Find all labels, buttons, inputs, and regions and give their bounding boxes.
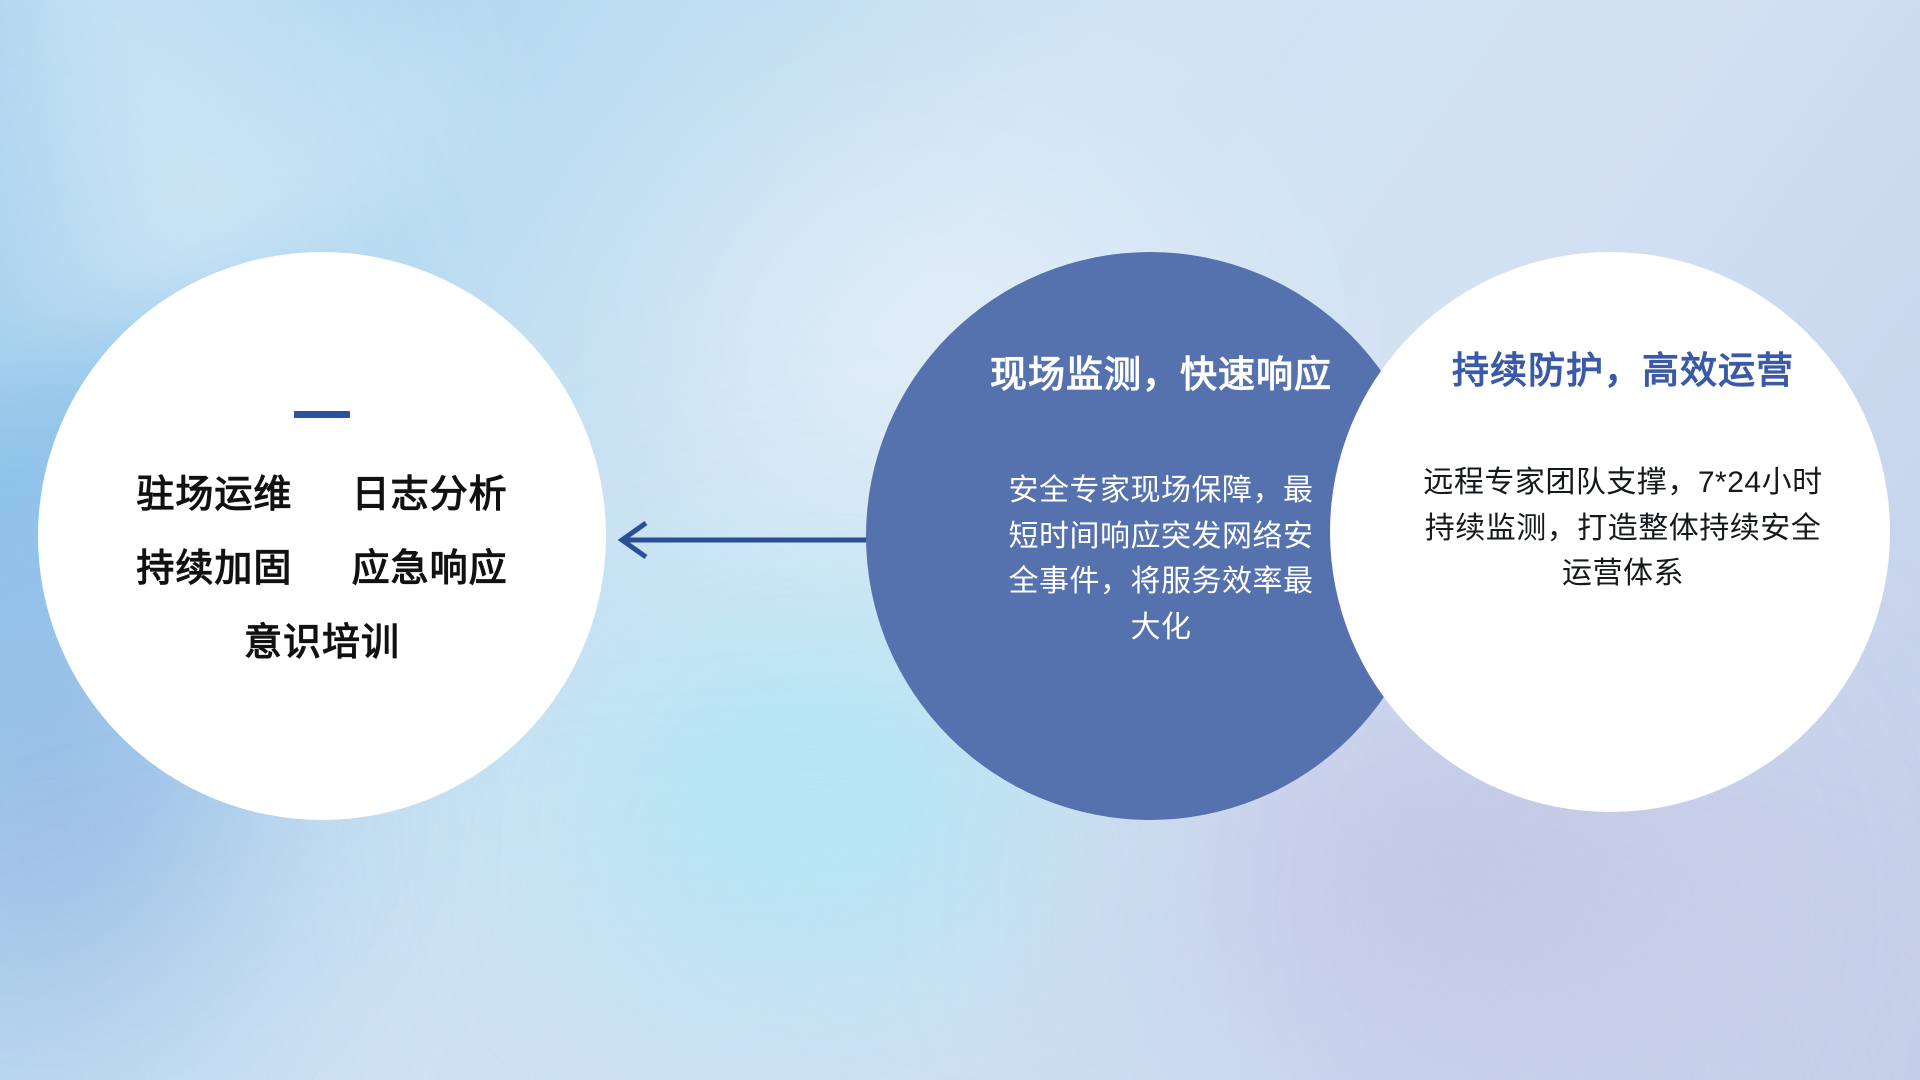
left-service-item-4: 应急响应	[352, 548, 508, 590]
right-circle-content: 持续防护，高效运营 远程专家团队支撑，7*24小时持续监测，打造整体持续安全运营…	[1330, 252, 1890, 812]
left-service-item-5: 意识培训	[244, 622, 400, 664]
slide-canvas: 驻场运维 日志分析 持续加固 应急响应 意识培训 现场监测，快速响应 安全专家现…	[0, 0, 1920, 1080]
left-service-row-2: 持续加固 应急响应	[136, 550, 507, 588]
right-circle-body: 远程专家团队支撑，7*24小时持续监测，打造整体持续安全运营体系	[1413, 460, 1833, 597]
arrow-left-connector	[600, 510, 890, 570]
left-service-item-2: 日志分析	[352, 474, 508, 516]
middle-circle-title: 现场监测，快速响应	[990, 344, 1332, 398]
left-divider-dash	[294, 411, 350, 418]
right-circle-title: 持续防护，高效运营	[1452, 340, 1794, 394]
left-service-row-3: 意识培训	[244, 624, 400, 662]
left-circle-content: 驻场运维 日志分析 持续加固 应急响应 意识培训	[38, 252, 606, 820]
background-blob-lower-band	[0, 880, 1920, 1080]
left-service-item-3: 持续加固	[136, 548, 292, 590]
left-service-item-1: 驻场运维	[136, 474, 292, 516]
left-service-row-1: 驻场运维 日志分析	[136, 476, 507, 514]
middle-circle-body: 安全专家现场保障，最短时间响应突发网络安全事件，将服务效率最大化	[996, 468, 1326, 650]
